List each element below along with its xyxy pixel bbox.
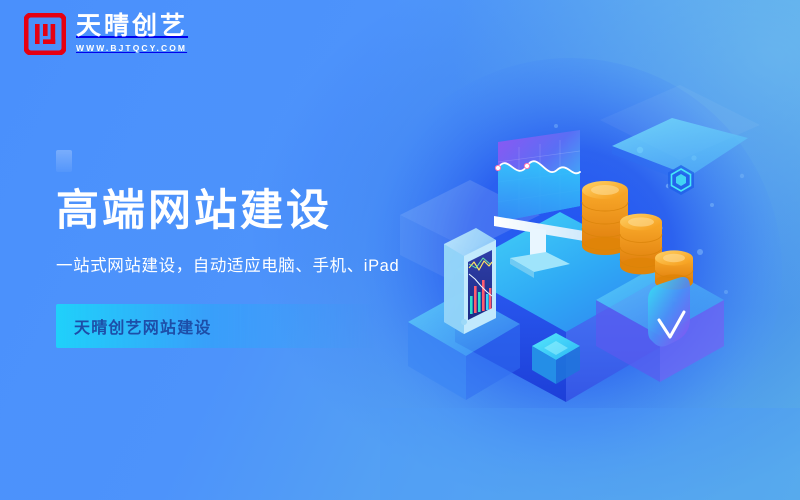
cta-button-label: 天晴创艺网站建设 — [56, 314, 212, 338]
mountain-square-icon — [24, 13, 66, 55]
logo-link[interactable]: 天晴创艺 WWW.BJTQCY.COM — [24, 12, 188, 55]
page-title: 高端网站建设 — [56, 186, 456, 236]
hero-copy: 高端网站建设 一站式网站建设，自动适应电脑、手机、iPad 天晴创艺网站建设 — [56, 150, 456, 348]
logo-text: 天晴创艺 WWW.BJTQCY.COM — [76, 12, 188, 55]
logo-company-name: 天晴创艺 — [76, 13, 188, 40]
cta-button[interactable]: 天晴创艺网站建设 — [56, 304, 374, 348]
hero-subtitle: 一站式网站建设，自动适应电脑、手机、iPad — [56, 254, 456, 278]
logo-website-url: WWW.BJTQCY.COM — [76, 42, 188, 55]
accent-tick — [56, 150, 72, 172]
site-header: 天晴创艺 WWW.BJTQCY.COM — [0, 0, 800, 78]
hero-banner: 天晴创艺 WWW.BJTQCY.COM 高端网站建设 一站式网站建设，自动适应电… — [0, 0, 800, 500]
